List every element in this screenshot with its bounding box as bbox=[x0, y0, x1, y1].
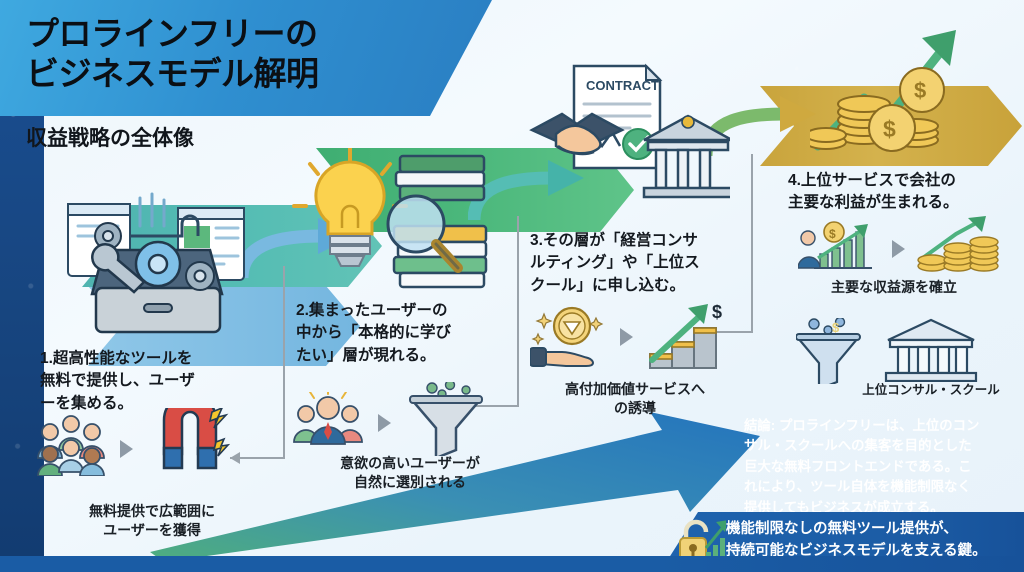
svg-text:$: $ bbox=[712, 302, 722, 322]
page-subtitle: 収益戦略の全体像 bbox=[26, 122, 194, 152]
svg-text:$: $ bbox=[832, 320, 840, 335]
footer-strip bbox=[0, 556, 1024, 572]
conclusion-text: 結論: プロラインフリーは、上位のコン サル・スクールへの集客を目的とした 巨大… bbox=[744, 416, 1022, 518]
panel-icons-caption: 上位コンサル・スクール bbox=[838, 382, 1024, 399]
page-title: プロラインフリーの ビジネスモデル解明 bbox=[26, 14, 446, 95]
step-3-text: 3.その層が「経営コンサ ルティング」や「上位ス クール」に申し込む。 bbox=[530, 230, 756, 297]
step-2-text: 2.集まったユーザーの 中から「本格的に学び たい」層が現れる。 bbox=[296, 300, 520, 367]
funnel-dollar-icon: $ bbox=[796, 318, 862, 384]
analyst-bars-dollar-icon: $ bbox=[798, 220, 882, 274]
step-3-caption: 高付加価値サービスへ の誘導 bbox=[528, 380, 742, 418]
coins-growth-arrow-icon: $ $ bbox=[810, 24, 988, 160]
step-4-text: 4.上位サービスで会社の 主要な利益が生まれる。 bbox=[788, 170, 1018, 215]
coins-growth-icon bbox=[916, 216, 1002, 274]
arrow-right-icon-2 bbox=[378, 414, 391, 432]
funnel-icon bbox=[408, 382, 484, 456]
hand-diamond-coin-icon bbox=[530, 304, 612, 368]
step-1-text: 1.超高性能なツールを 無料で提供し、ユーザ ーを集める。 bbox=[40, 348, 254, 415]
bank-building-icon bbox=[884, 318, 978, 382]
stairs-growth-dollar-icon: $ bbox=[644, 298, 730, 370]
svg-text:$: $ bbox=[914, 78, 926, 103]
infographic-canvas: プロラインフリーの ビジネスモデル解明 収益戦略の全体像 bbox=[0, 0, 1024, 572]
svg-text:$: $ bbox=[829, 227, 836, 241]
lightbulb-books-magnifier-icon bbox=[288, 148, 502, 304]
step-4-caption: 主要な収益源を確立 bbox=[786, 278, 1002, 297]
people-group-icon-2 bbox=[292, 392, 364, 450]
step-2-caption: 意欲の高いユーザーが 自然に選別される bbox=[286, 454, 534, 492]
handshake-contract-bank-icon: CONTRACT bbox=[526, 60, 730, 210]
svg-text:$: $ bbox=[883, 116, 896, 142]
step-1-caption: 無料提供で広範囲に ユーザーを獲得 bbox=[32, 502, 272, 540]
arrow-right-icon-1 bbox=[120, 440, 133, 458]
contract-label: CONTRACT bbox=[586, 78, 659, 93]
people-group-icon bbox=[36, 414, 106, 476]
arrow-right-icon-4 bbox=[892, 240, 905, 258]
toolbox-gears-icon bbox=[58, 192, 258, 338]
magnet-icon bbox=[150, 408, 230, 480]
arrow-right-icon-3 bbox=[620, 328, 633, 346]
